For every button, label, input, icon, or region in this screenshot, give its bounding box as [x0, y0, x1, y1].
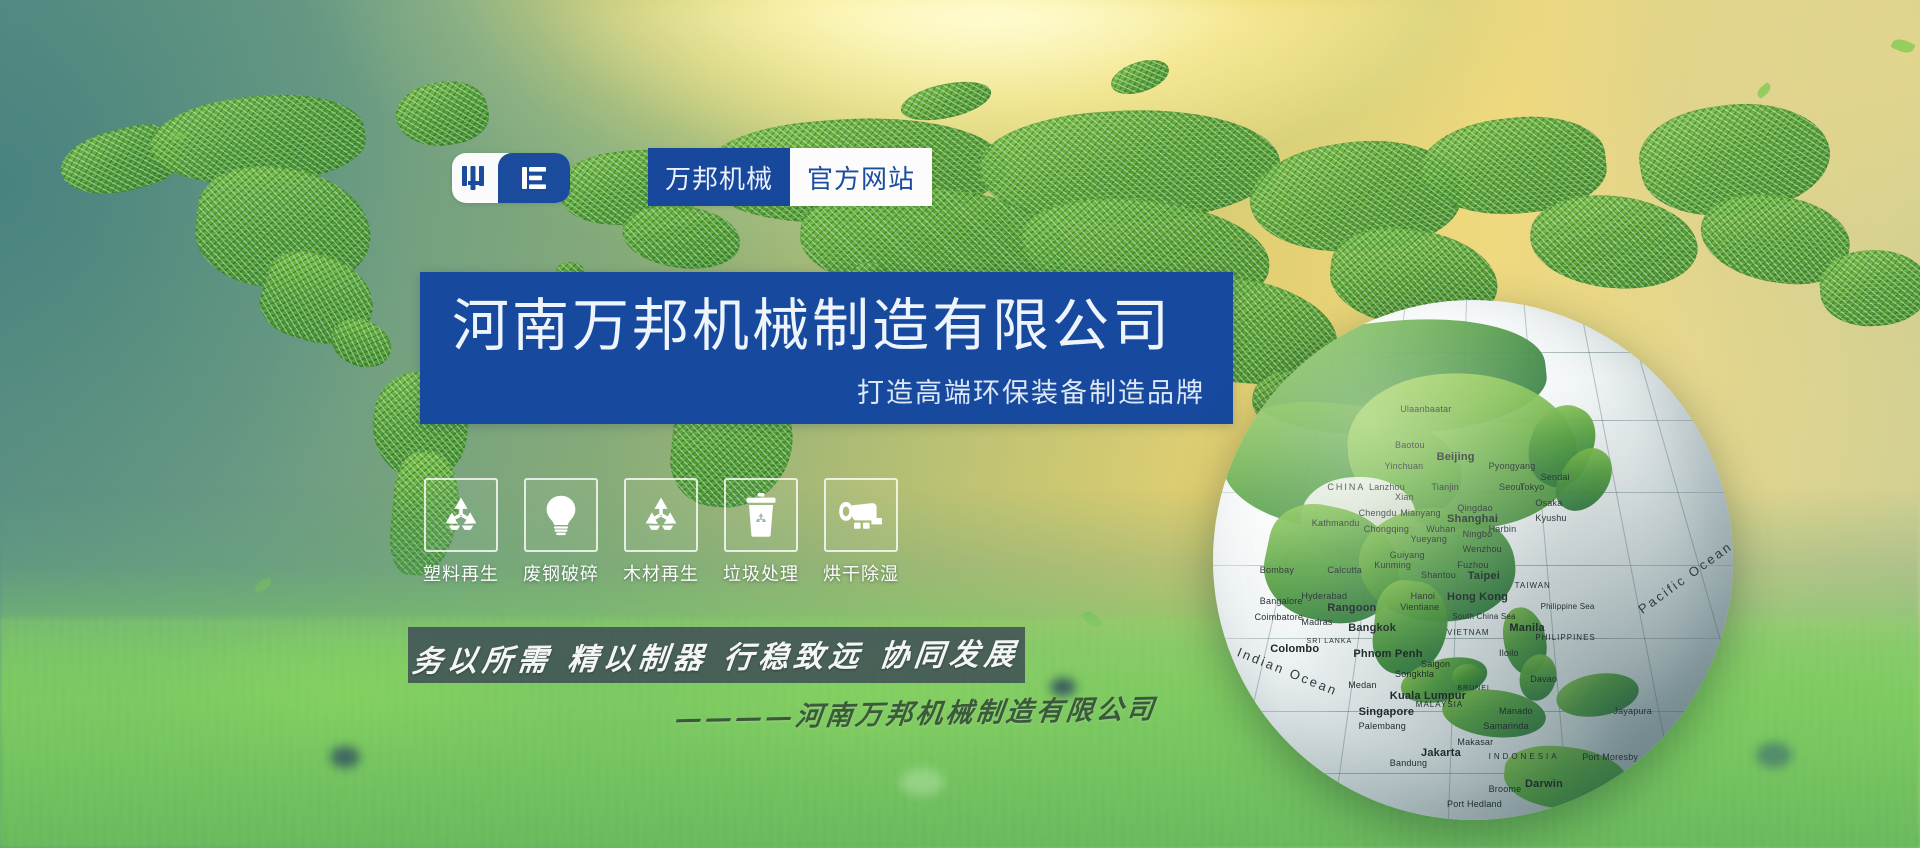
- slogan-bar: 务以所需 精以制器 行稳致远 协同发展: [408, 627, 1025, 683]
- globe-shading: [1213, 300, 1733, 820]
- site-logo[interactable]: [452, 153, 570, 203]
- bokeh-dot: [330, 746, 360, 768]
- page-subtitle: 打造高端环保装备制造品牌: [857, 376, 1205, 410]
- feature-item-wood-recycling[interactable]: 木材再生: [624, 478, 698, 585]
- hero-banner-page: 万邦机械 官方网站 河南万邦机械制造有限公司 打造高端环保装备制造品牌 塑: [0, 0, 1920, 848]
- feature-icon-box[interactable]: [524, 478, 598, 552]
- feature-icon-box[interactable]: [824, 478, 898, 552]
- slogan-text: 务以所需 精以制器 行稳致远 协同发展: [410, 629, 1022, 680]
- feature-label: 塑料再生: [423, 563, 499, 585]
- nav-item-official-site[interactable]: 官方网站: [790, 148, 932, 206]
- trash-bin-icon: [744, 493, 778, 537]
- feature-item-plastic-recycling[interactable]: 塑料再生: [424, 478, 498, 585]
- dryer-machine-icon: [838, 498, 884, 532]
- hero-banner: 河南万邦机械制造有限公司 打造高端环保装备制造品牌: [420, 272, 1233, 424]
- lightbulb-icon: [541, 494, 581, 536]
- feature-icon-box[interactable]: [624, 478, 698, 552]
- globe-graphic: CHINA Ulaanbaatar Beijing Baotou Yinchua…: [1213, 300, 1733, 820]
- feature-item-drying-dehumidifying[interactable]: 烘干除湿: [824, 478, 898, 585]
- feature-icon-box[interactable]: [424, 478, 498, 552]
- page-title: 河南万邦机械制造有限公司: [452, 292, 1172, 360]
- site-nav[interactable]: 万邦机械 官方网站: [648, 148, 932, 206]
- recycle-icon: [640, 494, 682, 536]
- bokeh-dot: [1756, 742, 1792, 768]
- logo-w-icon: [452, 164, 498, 192]
- feature-list: 塑料再生 废钢破碎: [424, 478, 898, 585]
- recycle-icon: [440, 494, 482, 536]
- nav-item-company[interactable]: 万邦机械: [648, 148, 790, 206]
- logo-b-icon: [498, 153, 570, 203]
- feature-label: 木材再生: [623, 563, 699, 585]
- feature-label: 垃圾处理: [723, 563, 799, 585]
- feature-label: 烘干除湿: [823, 563, 899, 585]
- feature-label: 废钢破碎: [523, 563, 599, 585]
- feature-icon-box[interactable]: [724, 478, 798, 552]
- feature-item-waste-treatment[interactable]: 垃圾处理: [724, 478, 798, 585]
- bokeh-dot: [900, 768, 944, 796]
- feature-item-scrap-steel-crushing[interactable]: 废钢破碎: [524, 478, 598, 585]
